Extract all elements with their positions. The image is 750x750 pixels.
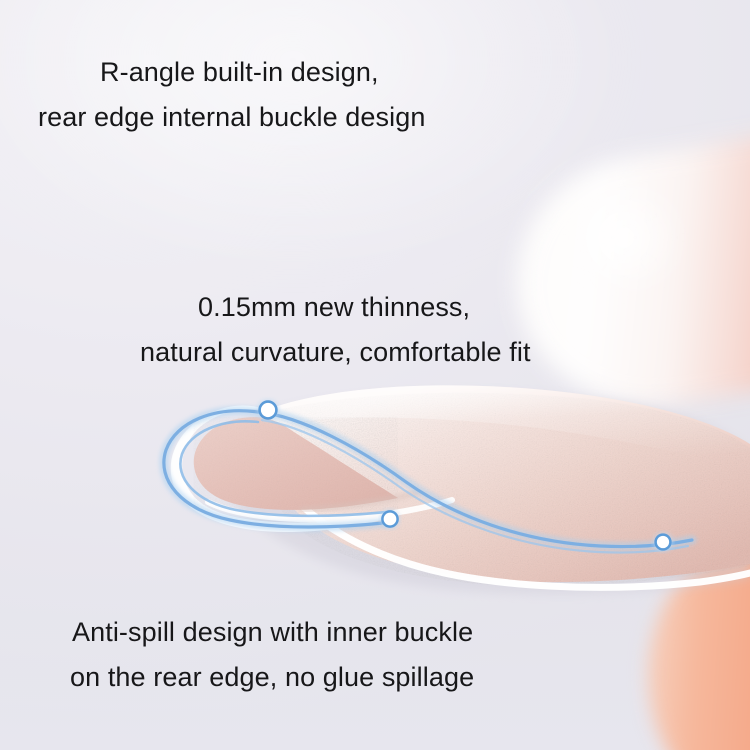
footline-text: Anti-spill design with inner buckle on t… (72, 610, 474, 700)
annotation-marker-rear-edge[interactable] (653, 532, 673, 552)
headline-line-1: R-angle built-in design, (100, 50, 425, 95)
annotation-marker-inner-edge[interactable] (380, 509, 400, 529)
headline-line-2: rear edge internal buckle design (38, 95, 425, 140)
headline-text: R-angle built-in design, rear edge inter… (100, 50, 425, 140)
footline-line-2: on the rear edge, no glue spillage (70, 655, 474, 700)
fingertip-top-highlight (556, 178, 726, 348)
footline-line-1: Anti-spill design with inner buckle (72, 610, 474, 655)
midline-line-1: 0.15mm new thinness, (198, 285, 531, 330)
midline-line-2: natural curvature, comfortable fit (140, 330, 531, 375)
product-feature-image: R-angle built-in design, rear edge inter… (0, 0, 750, 750)
annotation-marker-curl-top[interactable] (257, 399, 279, 421)
midline-text: 0.15mm new thinness, natural curvature, … (198, 285, 531, 375)
nail-patch-illustration (0, 352, 750, 620)
